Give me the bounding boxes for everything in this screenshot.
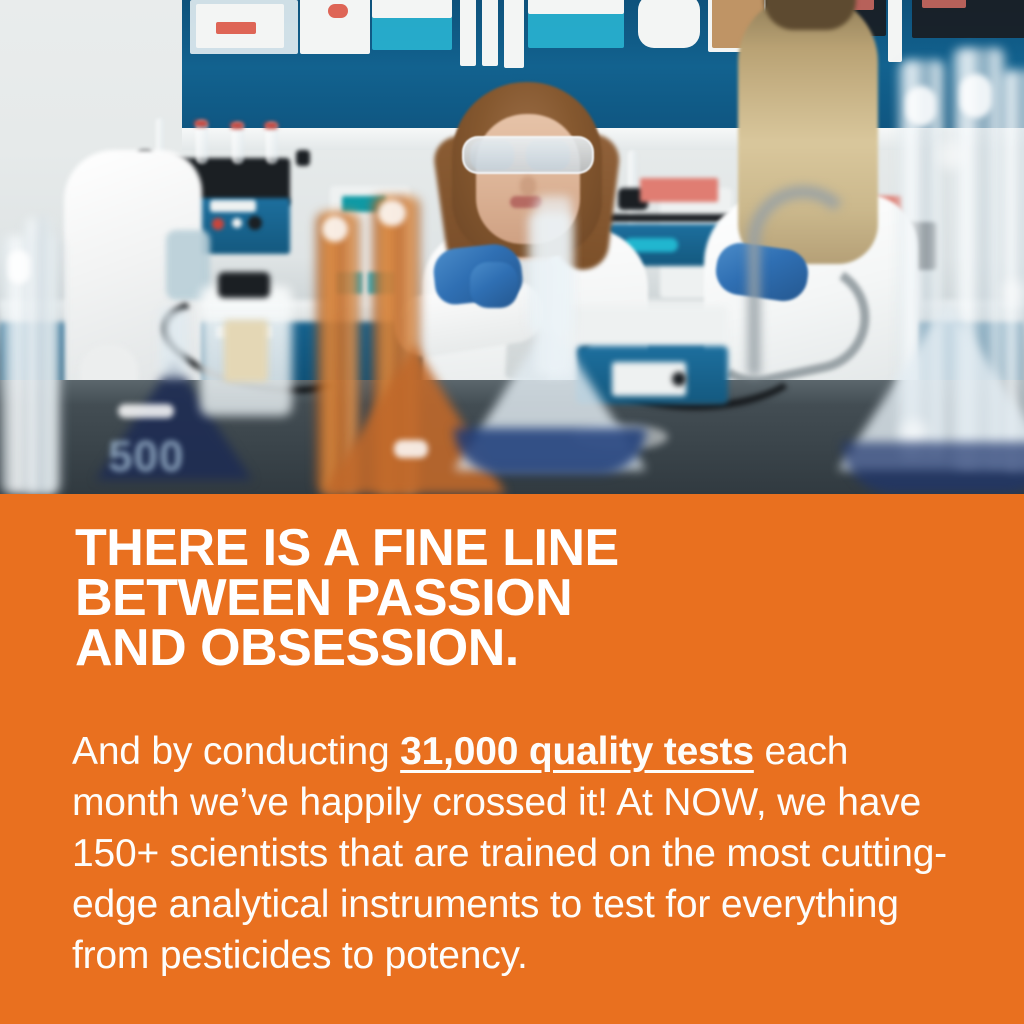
wash-bottle-cap: [218, 272, 270, 298]
tube-cap-3: [264, 122, 278, 129]
wash-bottle-label: [224, 320, 268, 382]
rack-clamp-right: [296, 150, 310, 166]
metal-hose-right: [748, 186, 858, 376]
instrument-display-left: [210, 200, 256, 212]
flask-volume-label-500: 500: [108, 432, 184, 482]
foreground-blue-liquid-right: [842, 442, 1024, 494]
amber-highlight-3: [394, 440, 428, 458]
body-paragraph: And by conducting 31,000 quality tests e…: [72, 726, 962, 981]
headline-line-2: BETWEEN PASSION: [75, 573, 975, 623]
amber-highlight-2: [378, 200, 406, 226]
blue-glove-center-fingers: [470, 262, 518, 308]
body-text-before: And by conducting: [72, 730, 400, 773]
poster-root: 500: [0, 0, 1024, 1024]
foreground-blue-liquid-center: [454, 428, 646, 474]
bokeh-right-1: [938, 140, 964, 170]
bokeh-right-2: [1002, 280, 1024, 306]
instrument-knob-2: [232, 218, 242, 228]
amber-highlight-1: [322, 216, 348, 242]
glass-highlight-r1: [906, 86, 936, 126]
lab-photograph: 500: [0, 0, 1024, 494]
quality-tests-emphasis: 31,000 quality tests: [400, 730, 754, 773]
glass-highlight-r2: [960, 74, 992, 118]
tube-cap-2: [230, 122, 244, 129]
glass-highlight-l1: [8, 250, 30, 284]
page-title: THERE IS A FINE LINE BETWEEN PASSION AND…: [75, 523, 975, 673]
bokeh-right-3: [900, 420, 928, 444]
instrument-knob-left: [212, 218, 224, 230]
headline-line-1: THERE IS A FINE LINE: [75, 523, 975, 573]
tube-cap-1: [194, 120, 208, 127]
orange-message-panel: THERE IS A FINE LINE BETWEEN PASSION AND…: [0, 494, 1024, 1024]
glass-highlight-flask: [118, 404, 174, 418]
stirrer-knob: [672, 372, 686, 386]
instrument-knob-3: [248, 216, 262, 230]
headline-line-3: AND OBSESSION.: [75, 623, 975, 673]
foreground-clear-flask-center-2: [536, 196, 572, 376]
